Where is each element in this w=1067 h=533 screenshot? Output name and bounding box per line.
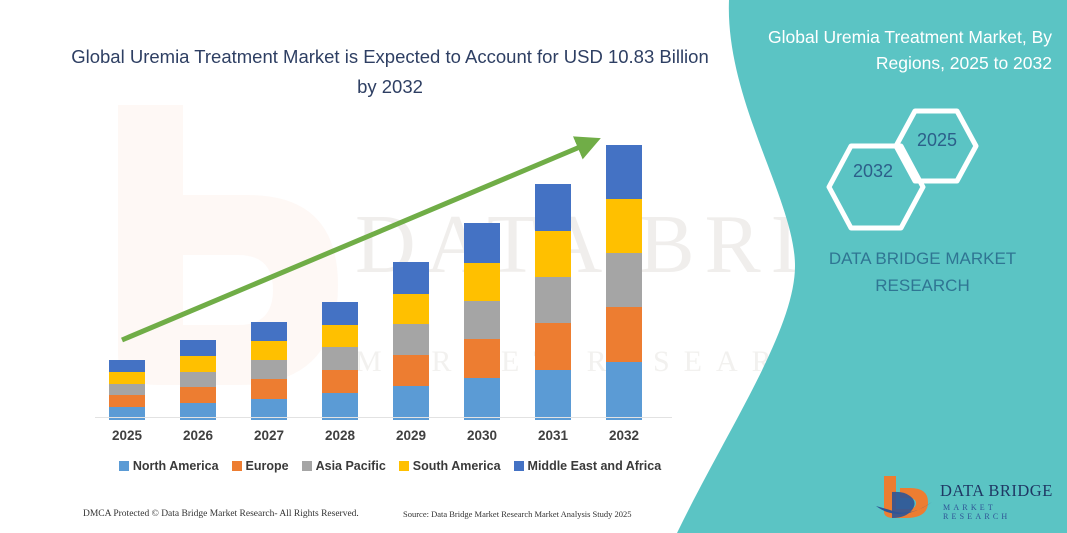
panel-brand-line1: DATA BRIDGE MARKET — [829, 249, 1016, 268]
x-axis-label-2029: 2029 — [381, 428, 441, 443]
footer-copyright: DMCA Protected © Data Bridge Market Rese… — [83, 509, 359, 519]
legend-swatch-icon — [119, 461, 129, 471]
logo-name: DATA BRIDGE — [940, 481, 1053, 501]
legend-label: Middle East and Africa — [528, 459, 662, 473]
legend-swatch-icon — [232, 461, 242, 471]
legend-label: North America — [133, 459, 219, 473]
legend-swatch-icon — [399, 461, 409, 471]
logo-tagline: MARKET RESEARCH — [943, 503, 1067, 521]
footer-source: Source: Data Bridge Market Research Mark… — [403, 509, 632, 519]
chart-legend: North AmericaEuropeAsia PacificSouth Ame… — [100, 459, 680, 473]
hexagon-2025-label: 2025 — [917, 130, 957, 151]
x-axis-label-2030: 2030 — [452, 428, 512, 443]
legend-item[interactable]: Europe — [232, 459, 289, 473]
legend-item[interactable]: Middle East and Africa — [514, 459, 662, 473]
x-axis-label-2028: 2028 — [310, 428, 370, 443]
hexagon-2032-label: 2032 — [853, 161, 893, 182]
growth-arrow-icon — [95, 120, 675, 420]
x-axis-label-2032: 2032 — [594, 428, 654, 443]
legend-item[interactable]: North America — [119, 459, 219, 473]
legend-label: South America — [413, 459, 501, 473]
legend-swatch-icon — [302, 461, 312, 471]
x-axis-label-2025: 2025 — [97, 428, 157, 443]
chart-title: Global Uremia Treatment Market is Expect… — [60, 42, 720, 102]
infographic-canvas: DATA BRIDGE MARKET RESEARCH Global Uremi… — [0, 0, 1067, 533]
legend-item[interactable]: South America — [399, 459, 501, 473]
legend-label: Europe — [246, 459, 289, 473]
chart-x-axis-labels: 20252026202720282029203020312032 — [95, 428, 675, 450]
legend-swatch-icon — [514, 461, 524, 471]
x-axis-label-2026: 2026 — [168, 428, 228, 443]
legend-item[interactable]: Asia Pacific — [302, 459, 386, 473]
x-axis-label-2031: 2031 — [523, 428, 583, 443]
panel-brand-line2: RESEARCH — [875, 276, 969, 295]
legend-label: Asia Pacific — [316, 459, 386, 473]
panel-brand-name: DATA BRIDGE MARKET RESEARCH — [795, 245, 1050, 299]
panel-title: Global Uremia Treatment Market, By Regio… — [722, 24, 1052, 76]
x-axis-label-2027: 2027 — [239, 428, 299, 443]
